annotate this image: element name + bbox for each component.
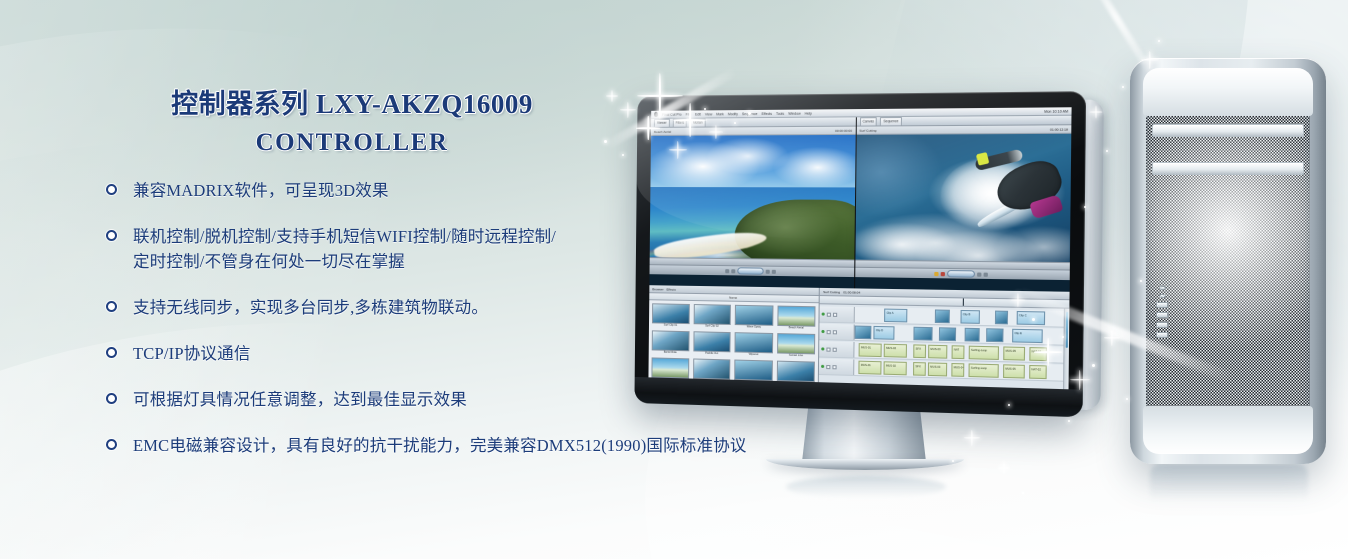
usb-port-icon[interactable] (1156, 302, 1168, 308)
timeline-clip[interactable]: Clip D (874, 326, 895, 340)
timeline-audio-clip[interactable]: MUS-03 (928, 345, 947, 359)
tower-reflection (1150, 464, 1308, 510)
feature-list: 兼容MADRIX软件，可呈现3D效果 联机控制/脱机控制/支持手机短信WIFI控… (106, 178, 866, 479)
ring-bullet-icon (106, 230, 117, 241)
marker-button[interactable] (934, 271, 938, 275)
timeline-clip[interactable]: Clip B (961, 310, 980, 324)
feature-line-1: 可根据灯具情况任意调整，达到最佳显示效果 (133, 390, 467, 409)
feature-line-1: TCP/IP协议通信 (133, 344, 251, 363)
tower-port-strip[interactable] (1154, 286, 1170, 338)
list-item: 兼容MADRIX软件，可呈现3D效果 (106, 178, 866, 203)
optical-drive-slot[interactable] (1152, 162, 1304, 175)
mac-pro-tower (1130, 58, 1326, 464)
optical-drive-slot[interactable] (1152, 124, 1304, 137)
timeline-audio-clip[interactable]: Surfing-Loop (969, 363, 999, 377)
menu-item-view[interactable]: View (705, 112, 712, 116)
sparkle-dot (1106, 150, 1108, 152)
transport-button[interactable] (983, 272, 987, 276)
surfer-wave-photo (855, 134, 1071, 262)
sparkle-dot (1122, 86, 1124, 88)
menubar-clock[interactable]: Mon 10:10 AM (1044, 109, 1068, 113)
menu-item-app[interactable]: Final Cut Pro (662, 112, 682, 116)
power-button-icon[interactable] (1159, 286, 1166, 290)
tab-viewer[interactable]: Viewer (654, 119, 670, 127)
record-button[interactable] (940, 272, 944, 276)
tab-canvas[interactable]: Canvas (859, 117, 877, 125)
timeline-clip[interactable] (965, 328, 980, 342)
feature-line-1: 支持无线同步，实现多台同步,多栋建筑物联动。 (133, 298, 488, 317)
banner-headline: 控制器系列 LXY-AKZQ16009 CONTROLLER (92, 82, 612, 157)
timeline-clip[interactable] (914, 327, 933, 341)
playhead[interactable] (963, 298, 964, 305)
feature-text: 兼容MADRIX软件，可呈现3D效果 (133, 178, 389, 203)
ring-bullet-icon (106, 439, 117, 450)
sparkle-dot (1158, 40, 1160, 42)
feature-text: 联机控制/脱机控制/支持手机短信WIFI控制/随时远程控制/ 定时控制/不管身在… (133, 224, 556, 274)
timeline-clip[interactable] (995, 311, 1008, 325)
menu-item-sequence[interactable]: Sequence (742, 111, 758, 115)
sparkle-dot (622, 154, 624, 156)
menu-item-mark[interactable]: Mark (716, 112, 724, 116)
timeline-audio-clip[interactable]: NAT-02 (1029, 347, 1047, 361)
tab-motion[interactable]: Motion (690, 118, 706, 126)
feature-line-1: 联机控制/脱机控制/支持手机短信WIFI控制/随时远程控制/ (133, 227, 556, 246)
menu-item-help[interactable]: Help (805, 111, 812, 115)
timeline-clip[interactable]: Clip E (1012, 329, 1043, 343)
timeline-clip[interactable]: Clip A (884, 309, 907, 323)
list-item: TCP/IP协议通信 (106, 341, 866, 366)
tower-top-cap (1143, 68, 1313, 116)
tower-chassis (1130, 58, 1326, 464)
timeline-audio-clip[interactable]: MUS-02 (884, 361, 907, 375)
timeline-audio-clip[interactable]: NAT (952, 345, 965, 359)
firewire-port-icon[interactable] (1156, 332, 1168, 338)
timeline-audio-clip[interactable]: Surfing-Loop (969, 346, 999, 360)
list-item: 可根据灯具情况任意调整，达到最佳显示效果 (106, 387, 866, 412)
ring-bullet-icon (106, 301, 117, 312)
list-item: EMC电磁兼容设计，具有良好的抗干扰能力，完美兼容DMX512(1990)国际标… (106, 433, 866, 458)
tower-bottom-cap (1143, 406, 1313, 454)
menu-item-window[interactable]: Window (788, 111, 800, 115)
timeline-audio-clip[interactable]: MUS-03 (928, 362, 947, 376)
timeline-audio-clip[interactable]: MUS-05 (1003, 364, 1025, 378)
track-lane[interactable]: Clip D Clip E (855, 324, 1069, 344)
tab-filters[interactable]: Filters (672, 119, 687, 127)
product-banner: 控制器系列 LXY-AKZQ16009 CONTROLLER 兼容MADRIX软… (0, 0, 1348, 559)
sparkle-dot (1068, 420, 1070, 422)
apple-logo-icon[interactable] (654, 112, 658, 117)
feature-line-2: 定时控制/不管身在何处一切尽在掌握 (133, 249, 556, 274)
timeline-audio-clip[interactable]: SFX (913, 344, 926, 358)
menu-item-tools[interactable]: Tools (776, 111, 784, 115)
viewer-timecode: 00:00:00:00 (835, 128, 852, 132)
timeline-audio-clip[interactable]: MUS-04 (951, 363, 964, 377)
sparkle-dot (1022, 492, 1024, 494)
timeline-clip[interactable]: Clip C (1017, 311, 1045, 325)
timeline-audio-clip[interactable]: SFX (913, 362, 926, 376)
headphone-port-icon[interactable] (1159, 294, 1166, 298)
feature-text: 支持无线同步，实现多台同步,多栋建筑物联动。 (133, 295, 488, 320)
timeline-audio-clip[interactable]: NAT-02 (1029, 365, 1047, 379)
scrollbar-thumb[interactable] (1066, 312, 1069, 348)
menu-item-effects[interactable]: Effects (761, 111, 772, 115)
list-item: 支持无线同步，实现多台同步,多栋建筑物联动。 (106, 295, 866, 320)
viewer-clip-name: Beach Aerial (654, 129, 671, 133)
canvas-image-surfer (855, 134, 1071, 262)
timeline-audio-clip[interactable]: MUS-05 (1003, 346, 1025, 360)
menu-item-edit[interactable]: Edit (695, 112, 701, 116)
menubar-spacer (816, 111, 1040, 113)
firewire-port-icon[interactable] (1156, 322, 1168, 328)
feature-text: 可根据灯具情况任意调整，达到最佳显示效果 (133, 387, 467, 412)
track-lane[interactable]: Clip A Clip B Clip C (855, 307, 1069, 327)
canvas-timecode: 01:00:12:18 (1050, 127, 1068, 131)
feature-line-1: 兼容MADRIX软件，可呈现3D效果 (133, 181, 389, 200)
stand-reflection (786, 476, 946, 498)
feature-text: EMC电磁兼容设计，具有良好的抗干扰能力，完美兼容DMX512(1990)国际标… (133, 433, 747, 458)
timeline-clip[interactable] (986, 328, 1003, 342)
canvas-panel[interactable]: Canvas Sequence Surf Cutting 01:00:12:18 (854, 116, 1072, 292)
tab-sequence[interactable]: Sequence (880, 117, 902, 125)
page-subtitle: CONTROLLER (92, 129, 612, 157)
list-item: 联机控制/脱机控制/支持手机短信WIFI控制/随时远程控制/ 定时控制/不管身在… (106, 224, 866, 274)
ring-bullet-icon (106, 347, 117, 358)
feature-line-1: EMC电磁兼容设计，具有良好的抗干扰能力，完美兼容DMX512(1990)国际标… (133, 436, 747, 455)
timeline-vertical-scrollbar[interactable] (1063, 309, 1069, 390)
menu-item-modify[interactable]: Modify (728, 112, 738, 116)
canvas-transport-controls[interactable] (855, 267, 1070, 280)
ring-bullet-icon (106, 393, 117, 404)
timeline-clip[interactable] (939, 327, 956, 341)
menu-item-file[interactable]: File (686, 112, 691, 116)
transport-button[interactable] (977, 272, 981, 276)
canvas-seq-name: Surf Cutting (859, 128, 876, 132)
tower-perforated-panel (1146, 110, 1310, 412)
ring-bullet-icon (106, 184, 117, 195)
sparkle-dot (1126, 398, 1128, 400)
timeline-audio-clip[interactable]: MUS-02 (884, 344, 907, 358)
usb-port-icon[interactable] (1156, 312, 1168, 318)
feature-text: TCP/IP协议通信 (133, 341, 251, 366)
page-title: 控制器系列 LXY-AKZQ16009 (92, 82, 612, 121)
transport-cluster[interactable] (947, 270, 975, 278)
timeline-clip[interactable] (935, 309, 950, 323)
